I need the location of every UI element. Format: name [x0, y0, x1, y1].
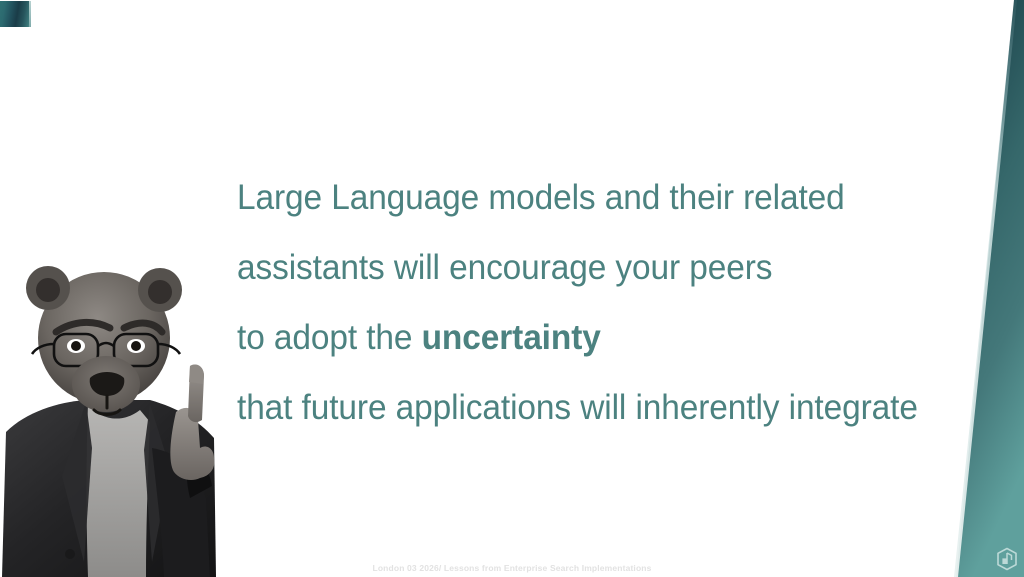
body-line-1: Large Language models and their related [237, 163, 944, 233]
body-line-4: that future applications will inherently… [237, 373, 944, 443]
corner-accent-bar [0, 1, 31, 27]
body-line-3-emphasis: uncertainty [422, 318, 601, 357]
slide-body-copy: Large Language models and their related … [237, 163, 977, 443]
slide-footer: London 03 2026/ Lessons from Enterprise … [0, 563, 1024, 573]
body-line-3-prefix: to adopt the [237, 318, 422, 357]
body-line-3: to adopt the uncertainty [237, 303, 944, 373]
body-line-2: assistants will encourage your peers [237, 233, 944, 303]
speaker-photo [0, 262, 232, 577]
presentation-slide: Large Language models and their related … [0, 0, 1024, 577]
